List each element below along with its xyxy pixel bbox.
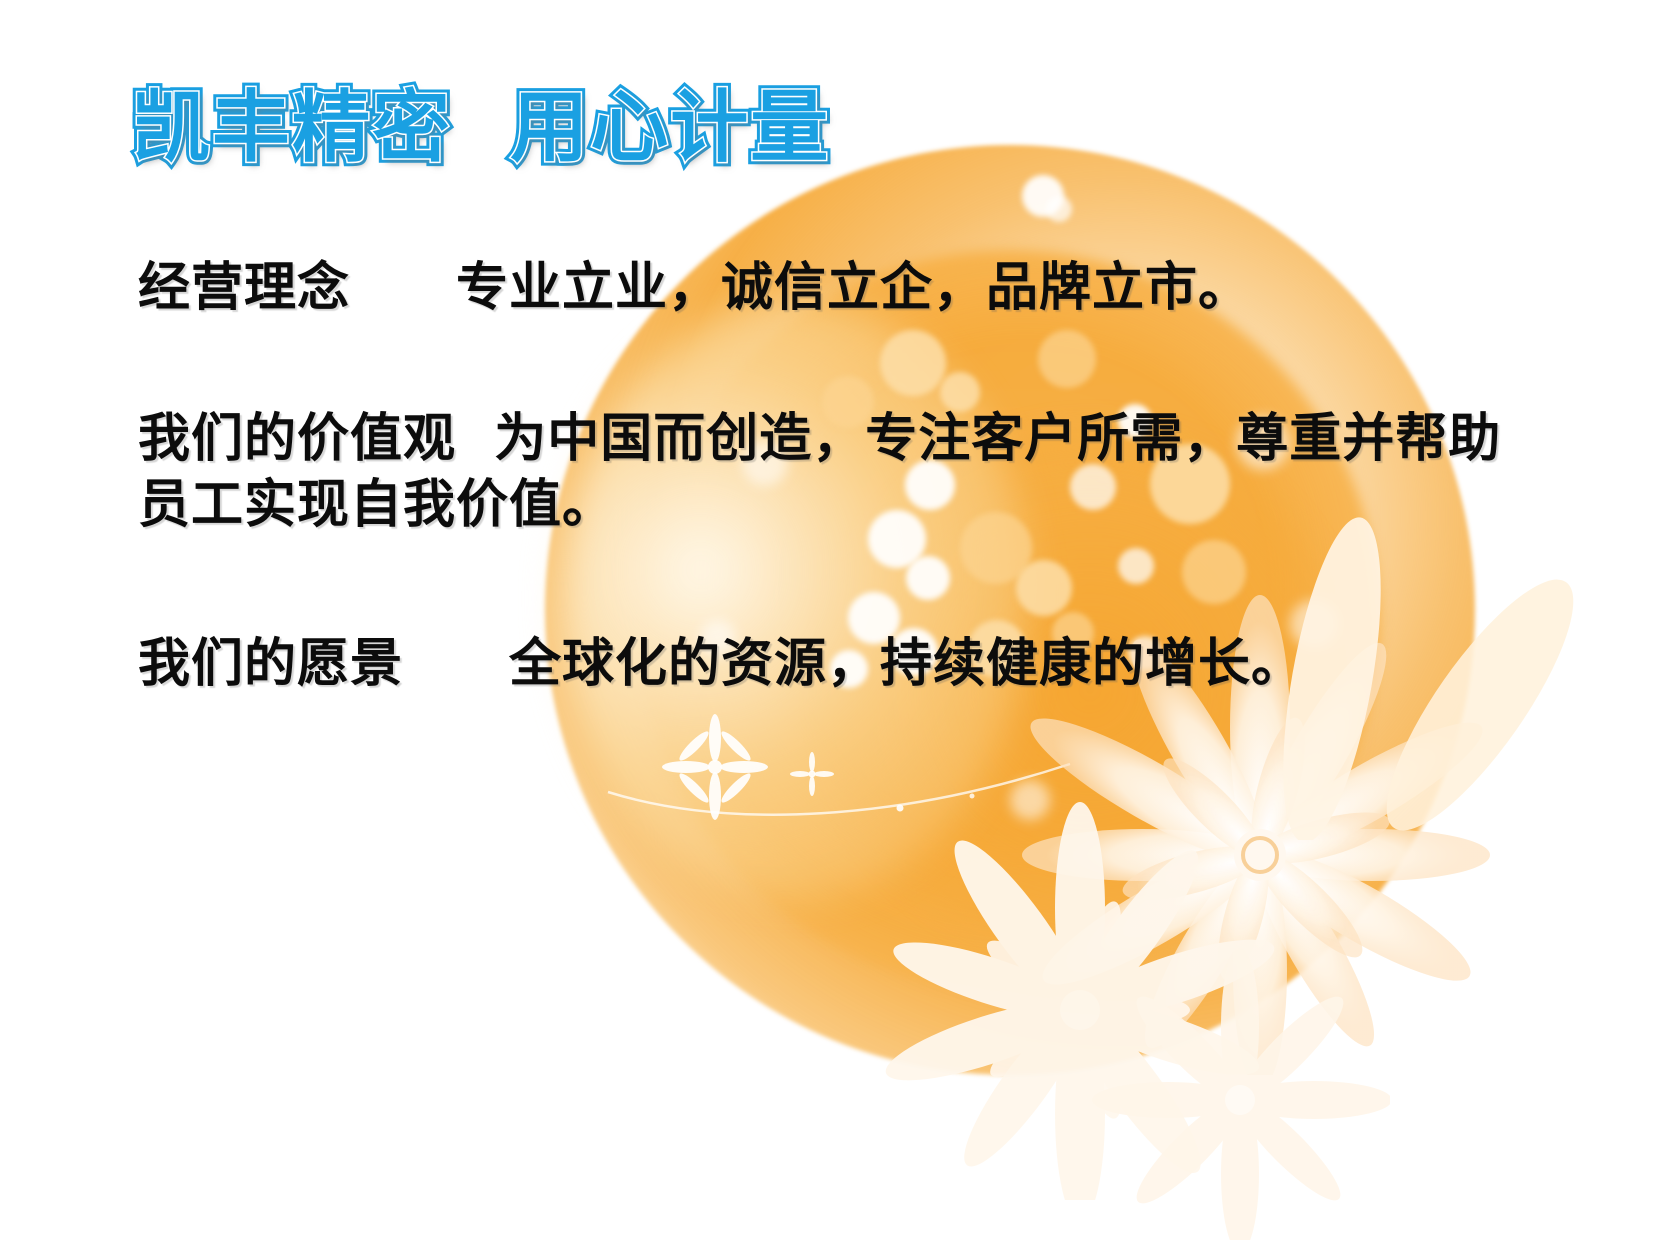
slide-title: 凯丰精密 用心计量	[132, 86, 830, 172]
bokeh-circle	[1022, 175, 1064, 217]
paragraph-business-philosophy: 经营理念 专业立业，诚信立企，品牌立市。	[138, 255, 1558, 322]
small-sparkle-icon	[790, 752, 834, 796]
chrysanthemum-medium-icon	[880, 800, 1280, 1200]
light-arc-icon	[600, 700, 1120, 880]
slide-body: 经营理念 专业立业，诚信立企，品牌立市。 我们的价值观 为中国而创造，专注客户所…	[138, 255, 1558, 697]
sparkle-flower-icon	[660, 712, 770, 822]
paragraph-our-values: 我们的价值观 为中国而创造，专注客户所需，尊重并帮助 员工实现自我价值。	[138, 406, 1558, 539]
bokeh-circle	[1046, 196, 1072, 222]
slide-canvas: 凯丰精密 用心计量 凯丰精密 用心计量 经营理念 专业立业，诚信立企，品牌立市。…	[0, 0, 1680, 1260]
paragraph-our-vision: 我们的愿景 全球化的资源，持续健康的增长。	[138, 631, 1558, 698]
bokeh-circle	[1010, 780, 1050, 820]
chrysanthemum-small-icon	[1090, 940, 1390, 1240]
